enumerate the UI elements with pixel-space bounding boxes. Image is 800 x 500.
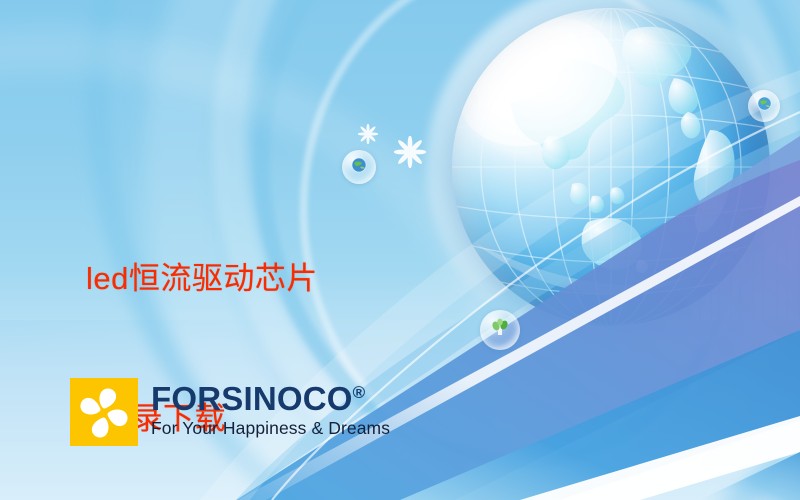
world-globe [452, 8, 770, 326]
leaf-icon [489, 317, 511, 344]
city-skyline [690, 215, 800, 320]
brand-name: FORSINOCO® [151, 382, 390, 415]
globe-halo [426, 0, 796, 352]
headline-line-1: led恒流驱动芯片 [86, 256, 416, 303]
brand-text-block: FORSINOCO® For Your Happiness & Dreams [151, 378, 390, 438]
sparkle-flower-small [358, 124, 378, 149]
globe-sphere [452, 8, 770, 326]
globe-icon-right [757, 96, 772, 116]
bubble-globe-icon-right [748, 90, 780, 122]
forsinoco-pinwheel-mark [70, 378, 138, 446]
registered-trademark-symbol: ® [353, 383, 366, 402]
brand-name-word: FORSINOCO [151, 380, 353, 417]
promo-banner: led恒流驱动芯片 目录下载 FORSINOCO® For Your Happi… [0, 0, 800, 500]
headline-text: led恒流驱动芯片 目录下载 [86, 163, 416, 500]
globe-specular-highlight [471, 18, 694, 171]
bubble-leaf-icon [480, 310, 520, 350]
brand-logo-lockup: FORSINOCO® For Your Happiness & Dreams [70, 378, 390, 446]
globe-rim-shading [452, 8, 770, 326]
brand-tagline: For Your Happiness & Dreams [151, 420, 390, 438]
